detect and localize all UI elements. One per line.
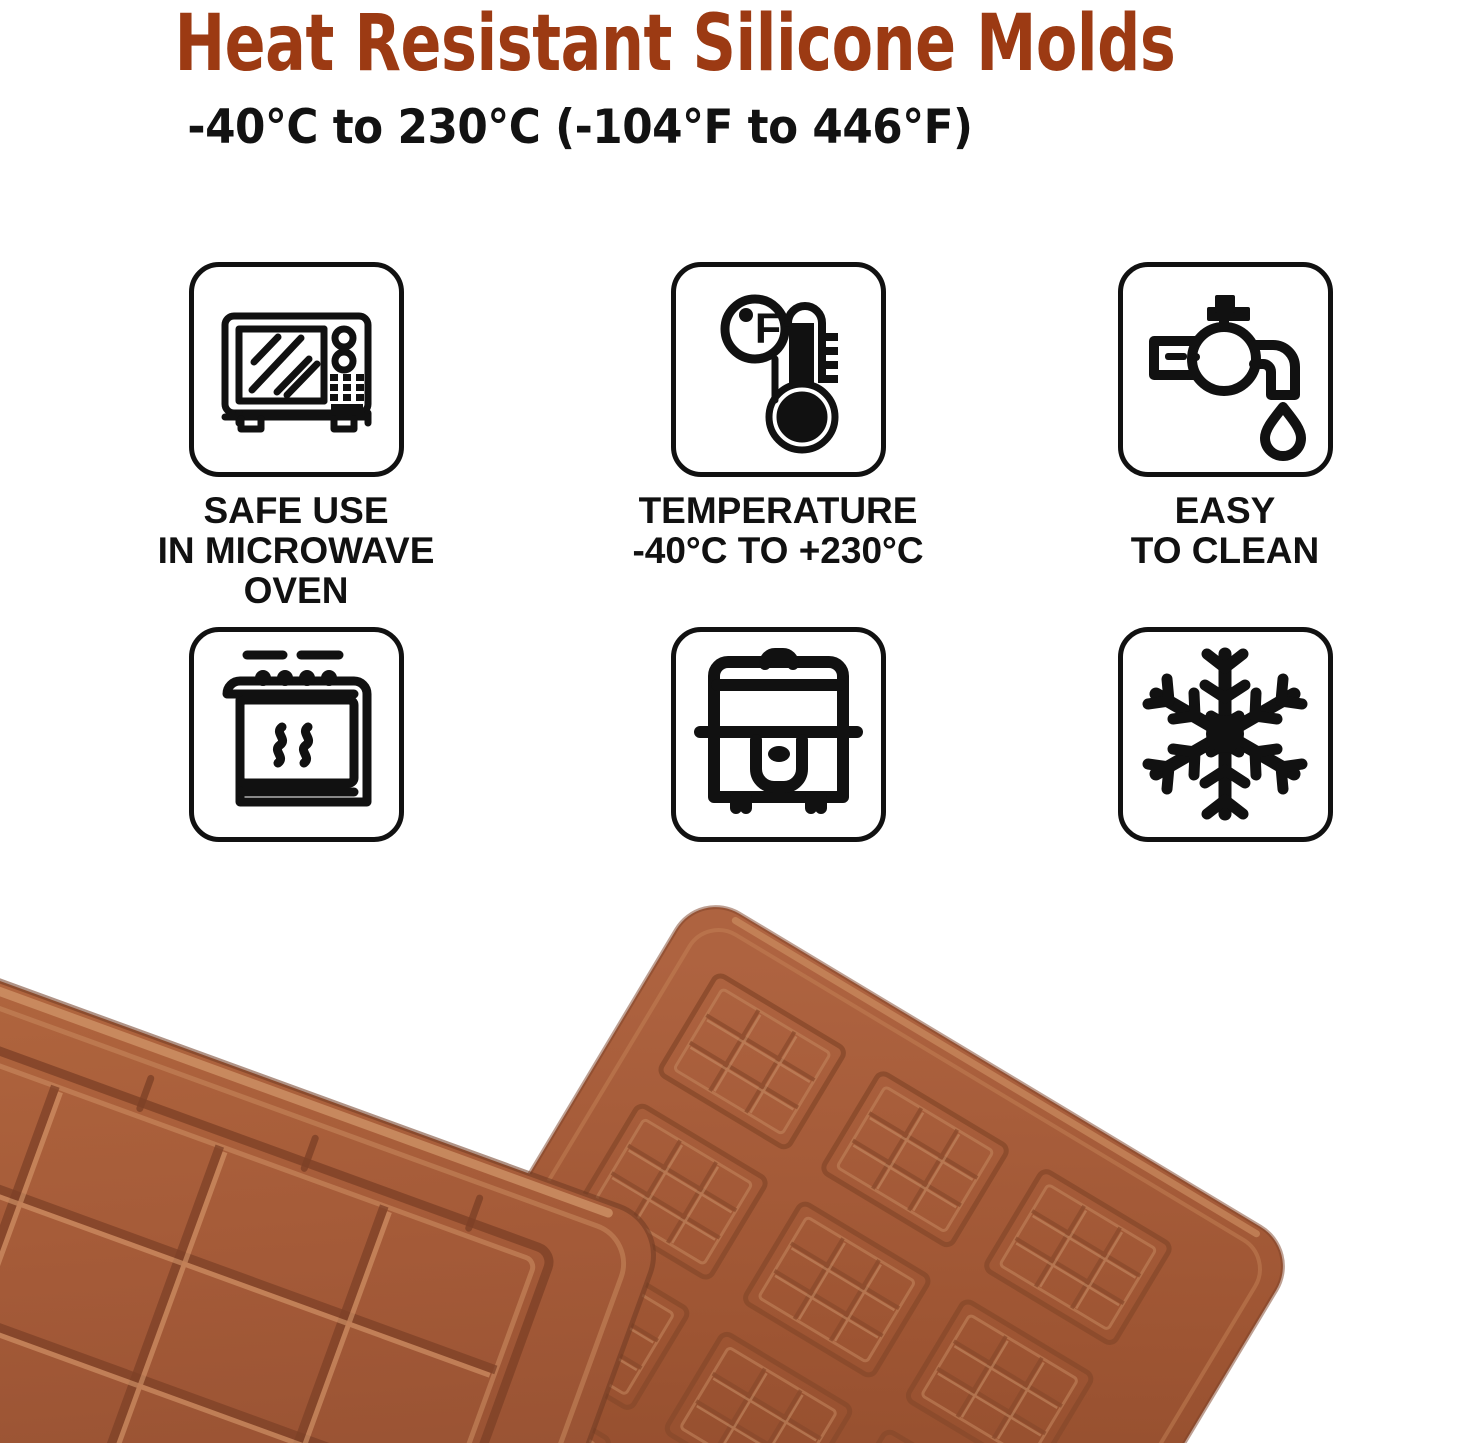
steamer-rice-cooker-icon <box>676 632 881 837</box>
faucet-water-drop-icon <box>1123 267 1328 472</box>
faucet-icon-tile <box>1118 262 1333 477</box>
steamer-icon-tile <box>671 627 886 842</box>
oven-icon-tile <box>189 627 404 842</box>
feature-label: SAFE USE IN MICROWAVE OVEN <box>131 491 461 611</box>
thermometer-icon-tile: F <box>671 262 886 477</box>
thermometer-fahrenheit-icon: F <box>676 267 881 472</box>
feature-grid: SAFE USE IN MICROWAVE OVEN F <box>0 0 1460 960</box>
feature-item-freezer: FREEZER <box>1060 627 1390 896</box>
feature-label: TEMPERATURE -40°C TO +230°C <box>613 491 943 571</box>
silicone-molds-illustration <box>0 860 1460 1443</box>
oven-icon <box>194 632 399 837</box>
feature-item-easy-to-clean: EASY TO CLEAN <box>1060 262 1390 571</box>
feature-label: EASY TO CLEAN <box>1060 491 1390 571</box>
microwave-icon <box>194 267 399 472</box>
svg-text:F: F <box>754 305 780 353</box>
feature-item-temperature: F TEMPERATURE -40°C TO +230°C <box>613 262 943 571</box>
product-photo <box>0 860 1460 1443</box>
snowflake-icon <box>1123 632 1328 837</box>
microwave-icon-tile <box>189 262 404 477</box>
feature-item-microwave: SAFE USE IN MICROWAVE OVEN <box>131 262 461 611</box>
snowflake-icon-tile <box>1118 627 1333 842</box>
